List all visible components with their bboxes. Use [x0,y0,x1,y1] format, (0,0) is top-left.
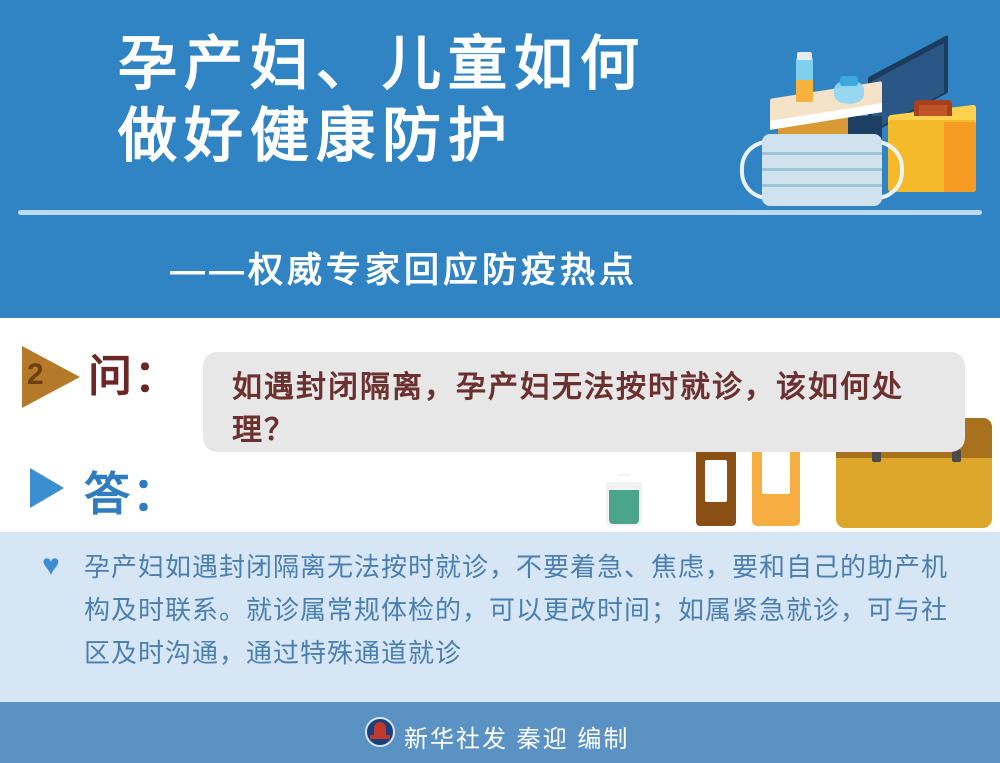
measuring-cup-mark-icon [618,482,630,484]
question-text: 如遇封闭隔离，孕产妇无法按时就诊，该如何处理？ [232,366,952,452]
header-banner: 孕产妇、儿童如何 做好健康防护 ——权威专家回应防疫热点 [0,0,1000,318]
answer-label: 答： [84,458,180,524]
answer-arrow-icon [30,468,64,508]
heart-icon: ♥ [42,554,68,578]
syringe-barrel-icon [840,76,858,86]
mask-fold-icon [762,184,882,187]
measuring-cup-mark-icon [618,474,630,476]
medical-case-handle-icon [914,100,952,116]
medical-case-side-icon [944,122,976,192]
title-block: 孕产妇、儿童如何 做好健康防护 [118,28,758,172]
mask-fold-icon [762,152,882,155]
header-illustration [748,42,988,217]
header-subtitle: ——权威专家回应防疫热点 [170,242,638,293]
title-line-1: 孕产妇、儿童如何 [118,28,758,100]
qa-section: 2 问： 如遇封闭隔离，孕产妇无法按时就诊，该如何处理？ 答： [0,318,1000,532]
pill-bottle-brown-label-icon [705,460,727,502]
footer-credit: 新华社发 秦迎 编制 [404,719,629,754]
infographic-poster: 孕产妇、儿童如何 做好健康防护 ——权威专家回应防疫热点 [0,0,1000,763]
xinhua-logo-base-icon [370,735,390,739]
vaccine-vial-fill-icon [796,80,813,102]
measuring-cup-liquid-icon [609,490,639,524]
question-number: 2 [27,358,44,392]
title-line-2: 做好健康防护 [118,100,758,172]
answer-body-text: 孕产妇如遇封闭隔离无法按时就诊，不要着急、焦虑，要和自己的助产机构及时联系。就诊… [84,546,964,675]
vaccine-vial-cap-icon [797,52,812,60]
mask-fold-icon [762,168,882,171]
answer-section: ♥ 孕产妇如遇封闭隔离无法按时就诊，不要着急、焦虑，要和自己的助产机构及时联系。… [0,532,1000,702]
question-label: 问： [88,340,180,404]
question-number-badge: 2 [22,346,84,408]
